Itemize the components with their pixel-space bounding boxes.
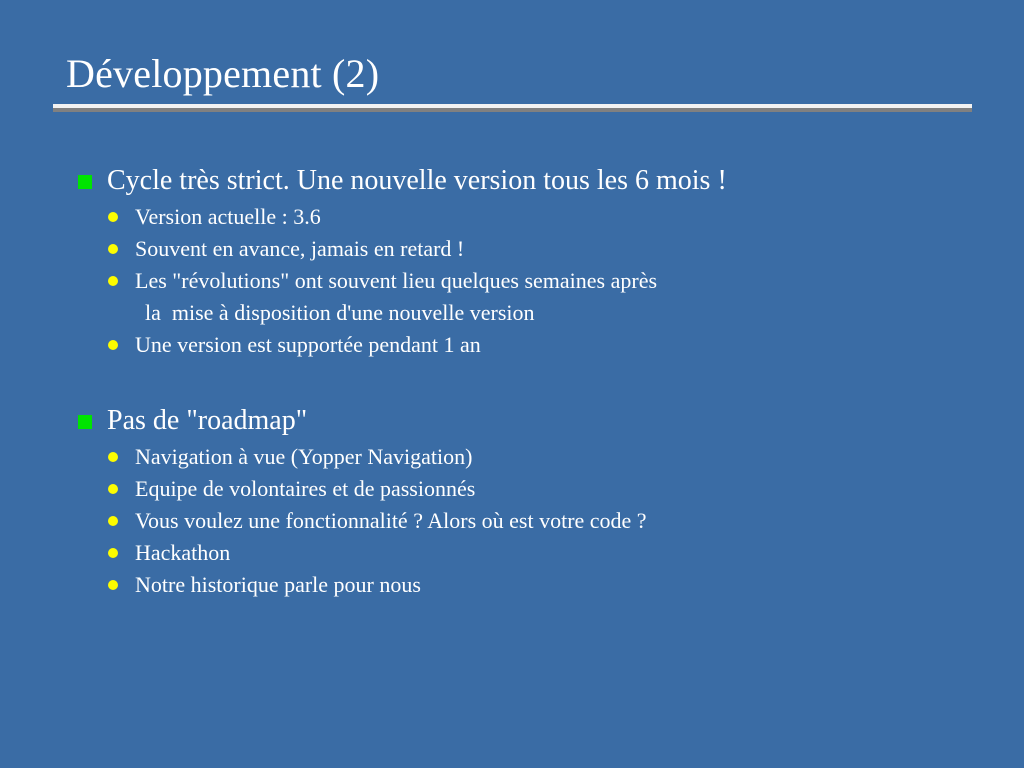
slide-body: Cycle très strict. Une nouvelle version … (78, 163, 978, 601)
page-title: Développement (2) (53, 48, 972, 100)
level2-bullet: Notre historique parle pour nous (78, 569, 978, 601)
level2-bullet-text: Vous voulez une fonctionnalité ? Alors o… (135, 508, 647, 533)
yellow-dot-bullet-icon (108, 516, 118, 526)
level1-bullet-text: Cycle très strict. Une nouvelle version … (107, 165, 727, 196)
yellow-dot-bullet-icon (108, 580, 118, 590)
level2-bullet: Version actuelle : 3.6 (78, 201, 978, 233)
level2-bullet: Equipe de volontaires et de passionnés (78, 473, 978, 505)
slide-title-block: Développement (2) (53, 48, 972, 112)
level1-bullet: Cycle très strict. Une nouvelle version … (78, 163, 919, 198)
level2-bullet-continuation: la mise à disposition d'une nouvelle ver… (135, 297, 978, 329)
level2-list: Version actuelle : 3.6 Souvent en avance… (78, 201, 978, 361)
bullet-group: Pas de "roadmap" Navigation à vue (Yoppe… (78, 403, 978, 601)
level2-bullet-text: Une version est supportée pendant 1 an (135, 332, 481, 357)
level2-list: Navigation à vue (Yopper Navigation) Equ… (78, 441, 978, 601)
level2-bullet-text: Notre historique parle pour nous (135, 572, 421, 597)
level2-bullet-text: Hackathon (135, 540, 230, 565)
yellow-dot-bullet-icon (108, 484, 118, 494)
level2-bullet-text: Les "révolutions" ont souvent lieu quelq… (135, 268, 657, 293)
yellow-dot-bullet-icon (108, 340, 118, 350)
level1-bullet-text: Pas de "roadmap" (107, 405, 307, 436)
level2-bullet: Hackathon (78, 537, 978, 569)
yellow-dot-bullet-icon (108, 212, 118, 222)
level2-bullet-text: Souvent en avance, jamais en retard ! (135, 236, 464, 261)
green-square-bullet-icon (78, 415, 92, 429)
title-underline-rule (53, 104, 972, 112)
green-square-bullet-icon (78, 175, 92, 189)
level2-bullet-text: Version actuelle : 3.6 (135, 204, 321, 229)
yellow-dot-bullet-icon (108, 452, 118, 462)
level2-bullet: Souvent en avance, jamais en retard ! (78, 233, 978, 265)
yellow-dot-bullet-icon (108, 548, 118, 558)
level2-bullet: Vous voulez une fonctionnalité ? Alors o… (78, 505, 978, 537)
level2-bullet: Les "révolutions" ont souvent lieu quelq… (78, 265, 978, 329)
level1-bullet: Pas de "roadmap" (78, 403, 919, 438)
level2-bullet-text: Navigation à vue (Yopper Navigation) (135, 444, 472, 469)
level2-bullet: Navigation à vue (Yopper Navigation) (78, 441, 978, 473)
yellow-dot-bullet-icon (108, 276, 118, 286)
yellow-dot-bullet-icon (108, 244, 118, 254)
bullet-group: Cycle très strict. Une nouvelle version … (78, 163, 978, 361)
level2-bullet: Une version est supportée pendant 1 an (78, 329, 978, 361)
level2-bullet-text: Equipe de volontaires et de passionnés (135, 476, 475, 501)
presentation-slide: Développement (2) Cycle très strict. Une… (0, 0, 1024, 768)
